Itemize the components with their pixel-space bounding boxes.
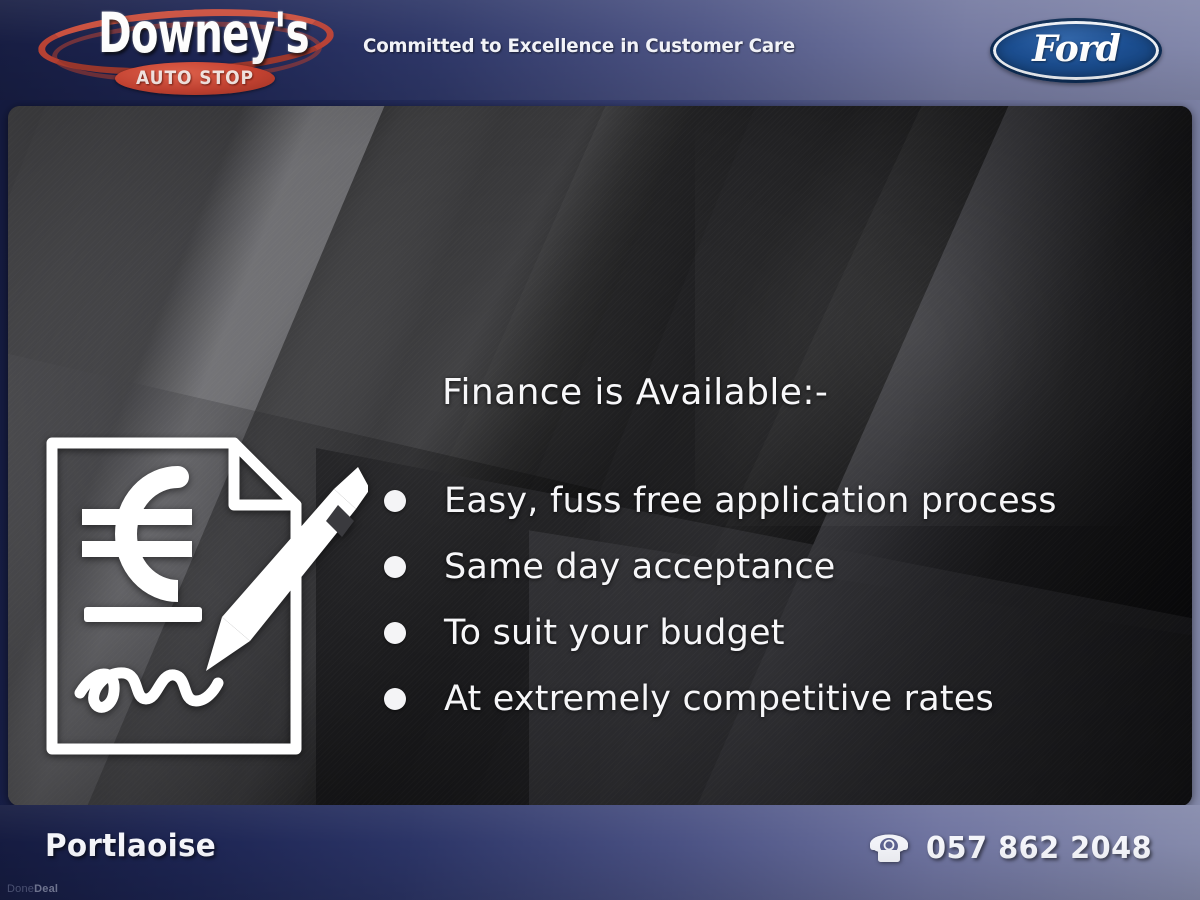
finance-benefits-list: Easy, fuss free application process Same…: [384, 468, 1174, 732]
list-item-label: To suit your budget: [444, 613, 785, 653]
dealer-location: Portlaoise: [45, 828, 216, 864]
dealer-tagline: Committed to Excellence in Customer Care: [363, 35, 795, 57]
advert-content: Finance is Available:- Easy, fuss free a…: [8, 106, 1192, 806]
list-item: To suit your budget: [384, 600, 1174, 666]
euro-document-signature-pen-icon: [38, 431, 368, 761]
page-title: Finance is Available:-: [442, 372, 828, 413]
bullet-dot-icon: [384, 622, 406, 644]
list-item-label: Easy, fuss free application process: [444, 481, 1057, 521]
phone-number-label: 057 862 2048: [926, 831, 1152, 866]
list-item: Easy, fuss free application process: [384, 468, 1174, 534]
dealer-logo-subtitle: AUTO STOP: [123, 65, 267, 91]
list-item-label: Same day acceptance: [444, 547, 836, 587]
advert-main-panel: Finance is Available:- Easy, fuss free a…: [8, 106, 1192, 806]
dealer-phone[interactable]: 057 862 2048: [868, 831, 1162, 866]
dealer-logo[interactable]: Downey's AUTO STOP: [30, 2, 340, 98]
bullet-dot-icon: [384, 688, 406, 710]
list-item-label: At extremely competitive rates: [444, 679, 994, 719]
watermark-bold: Deal: [34, 883, 58, 895]
advert-header: Downey's AUTO STOP Committed to Excellen…: [0, 0, 1200, 100]
dealer-finance-advert: Downey's AUTO STOP Committed to Excellen…: [0, 0, 1200, 900]
watermark-light: Done: [7, 883, 34, 895]
list-item: Same day acceptance: [384, 534, 1174, 600]
ford-brand-logo[interactable]: Ford: [990, 18, 1162, 83]
advert-footer: Portlaoise 057 862 2048 DoneDeal: [0, 805, 1200, 900]
bullet-dot-icon: [384, 556, 406, 578]
list-item: At extremely competitive rates: [384, 666, 1174, 732]
ford-wordmark: Ford: [990, 18, 1162, 83]
dealer-logo-name: Downey's: [98, 5, 296, 64]
telephone-icon: [868, 834, 910, 864]
doneDeal-watermark: DoneDeal: [7, 883, 58, 895]
bullet-dot-icon: [384, 490, 406, 512]
